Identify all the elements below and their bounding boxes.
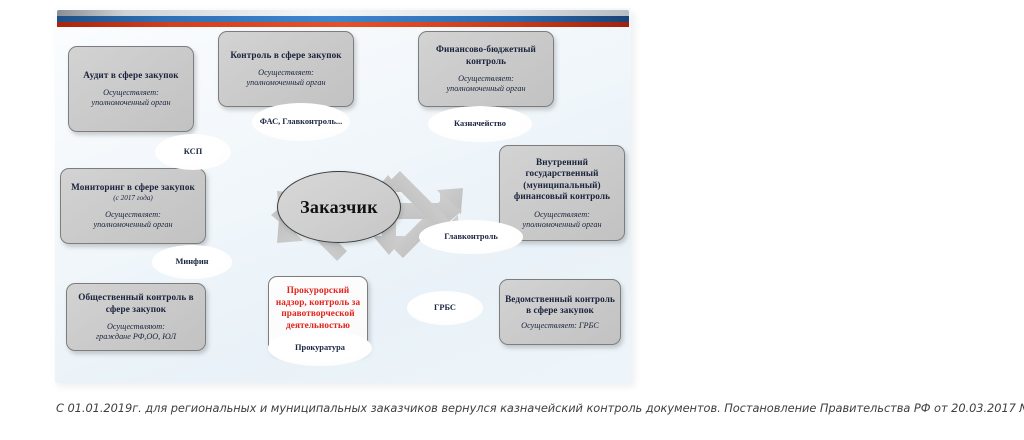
center-node-customer[interactable]: Заказчик bbox=[277, 171, 401, 243]
box-financial-budget-control[interactable]: Финансово-бюджетный контроль Осуществляе… bbox=[418, 31, 554, 107]
box-control-procurement-subtitle: Осуществляет: уполномоченный орган bbox=[246, 68, 325, 88]
ellipse-fas-label: ФАС, Главконтроль... bbox=[260, 117, 342, 127]
box-audit-sub-value: уполномоченный орган bbox=[91, 98, 170, 107]
box-audit-sub-label: Осуществляет: bbox=[103, 88, 159, 97]
box-financial-budget-control-sub-label: Осуществляет: bbox=[458, 74, 514, 83]
ellipse-ksp-label: КСП bbox=[184, 147, 202, 157]
ellipse-treasury-label: Казначейство bbox=[454, 119, 506, 129]
ellipse-ksp[interactable]: КСП bbox=[155, 134, 231, 170]
box-monitoring-subtitle: Осуществляет: уполномоченный орган bbox=[93, 210, 172, 230]
box-public-control-subtitle: Осуществляют: граждане РФ,ОО, ЮЛ bbox=[96, 322, 176, 342]
ellipse-glavkontrol[interactable]: Главконтроль bbox=[419, 220, 523, 254]
box-internal-state-control-title: Внутренний государственный (муниципальны… bbox=[505, 157, 619, 203]
box-public-control-sub-label: Осуществляют: bbox=[107, 322, 165, 331]
ellipse-grbs[interactable]: ГРБС bbox=[407, 291, 483, 325]
ellipse-prokuratura[interactable]: Прокуратура bbox=[268, 330, 372, 366]
box-monitoring-title: Мониторинг в сфере закупок bbox=[71, 182, 195, 194]
box-monitoring-sub-value: уполномоченный орган bbox=[93, 220, 172, 229]
box-audit-subtitle: Осуществляет: уполномоченный орган bbox=[91, 88, 170, 108]
box-monitoring-note: (с 2017 года) bbox=[113, 194, 152, 203]
ellipse-minfin-label: Минфин bbox=[175, 257, 208, 267]
box-public-control-title: Общественный контроль в сфере закупок bbox=[72, 292, 200, 315]
box-internal-state-control-sub-value: уполномоченный орган bbox=[522, 220, 601, 229]
ellipse-fas[interactable]: ФАС, Главконтроль... bbox=[252, 103, 350, 141]
box-public-control-sub-value: граждане РФ,ОО, ЮЛ bbox=[96, 332, 176, 341]
box-audit-title: Аудит в сфере закупок bbox=[83, 70, 178, 82]
box-internal-state-control-subtitle: Осуществляет: уполномоченный орган bbox=[522, 210, 601, 230]
box-financial-budget-control-subtitle: Осуществляет: уполномоченный орган bbox=[446, 74, 525, 94]
box-prosecutor-supervision-title: Прокурорский надзор, контроль за правотв… bbox=[274, 285, 362, 331]
box-public-control[interactable]: Общественный контроль в сфере закупок Ос… bbox=[66, 283, 206, 351]
ellipse-grbs-label: ГРБС bbox=[434, 303, 456, 313]
box-control-procurement[interactable]: Контроль в сфере закупок Осуществляет: у… bbox=[218, 31, 354, 107]
box-financial-budget-control-sub-value: уполномоченный орган bbox=[446, 84, 525, 93]
slide-canvas: Аудит в сфере закупок Осуществляет: упол… bbox=[0, 0, 1024, 440]
box-internal-state-control[interactable]: Внутренний государственный (муниципальны… bbox=[499, 145, 625, 241]
box-control-procurement-title: Контроль в сфере закупок bbox=[230, 50, 341, 62]
box-departmental-control[interactable]: Ведомственный контроль в сфере закупок О… bbox=[499, 279, 621, 345]
ellipse-prokuratura-label: Прокуратура bbox=[295, 343, 345, 353]
box-departmental-control-sub-value: Осуществляет: ГРБС bbox=[521, 321, 599, 331]
box-monitoring[interactable]: Мониторинг в сфере закупок (с 2017 года)… bbox=[60, 168, 206, 244]
ellipse-glavkontrol-label: Главконтроль bbox=[444, 232, 498, 242]
ellipse-treasury[interactable]: Казначейство bbox=[428, 106, 532, 142]
box-control-procurement-sub-value: уполномоченный орган bbox=[246, 78, 325, 87]
center-node-label: Заказчик bbox=[300, 197, 378, 218]
box-control-procurement-sub-label: Осуществляет: bbox=[258, 68, 314, 77]
box-financial-budget-control-title: Финансово-бюджетный контроль bbox=[424, 44, 548, 67]
box-departmental-control-title: Ведомственный контроль в сфере закупок bbox=[505, 294, 615, 317]
slide-caption: С 01.01.2019г. для региональных и муници… bbox=[56, 401, 1006, 415]
box-audit[interactable]: Аудит в сфере закупок Осуществляет: упол… bbox=[68, 46, 194, 132]
ellipse-minfin[interactable]: Минфин bbox=[152, 245, 232, 279]
box-monitoring-sub-label: Осуществляет: bbox=[105, 210, 161, 219]
box-internal-state-control-sub-label: Осуществляет: bbox=[534, 210, 590, 219]
